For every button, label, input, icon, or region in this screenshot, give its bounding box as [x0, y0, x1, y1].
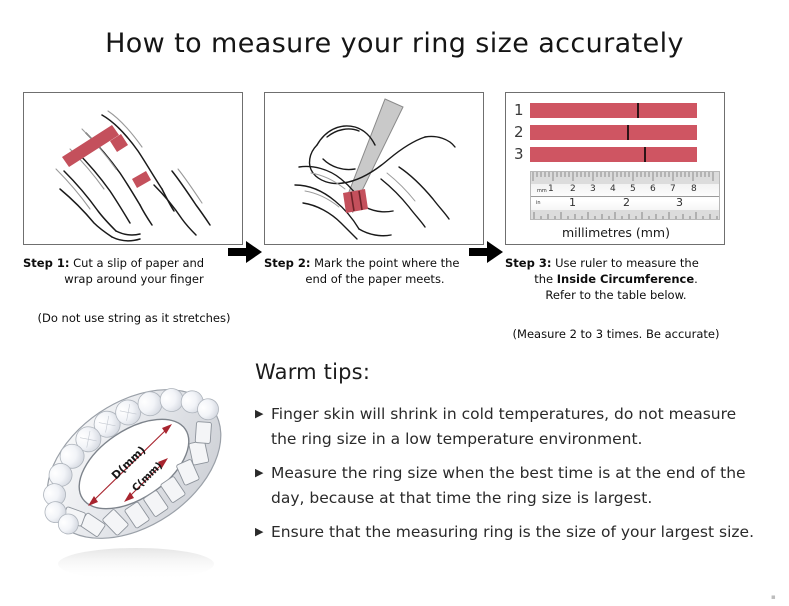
step-2-line1: Mark the point where the: [310, 256, 459, 270]
ruler-cm-band: mm 1 2 3 4 5 6 7 8: [531, 172, 719, 196]
ruler-cm-number: 3: [590, 185, 596, 194]
strip-mark: [637, 103, 639, 118]
strip-mark: [627, 125, 629, 140]
ruler-mm-tag: mm: [537, 187, 547, 196]
ruler-inch-number: 3: [676, 198, 683, 207]
warm-tip-text: Finger skin will shrink in cold temperat…: [271, 402, 755, 452]
step-3-line2-pre: the: [534, 272, 557, 286]
hand-marking-paper-with-pen-illustration: [265, 93, 483, 244]
step-1-note: (Do not use string as it stretches): [23, 311, 245, 326]
ruler-cm-number: 6: [650, 185, 656, 194]
ruler-illustration: mm 1 2 3 4 5 6 7 8 in 1 2 3: [530, 171, 720, 220]
warm-tip-text: Measure the ring size when the best time…: [271, 461, 755, 511]
step-2-caption: Step 2: Mark the point where the end of …: [264, 255, 486, 287]
strip-bar: [530, 125, 697, 140]
inside-circumference-emphasis: Inside Circumference: [557, 272, 694, 286]
strip-row: 2: [514, 123, 719, 141]
list-item: ▶ Measure the ring size when the best ti…: [255, 461, 755, 511]
strip-number: 3: [514, 147, 530, 162]
step-1-line2: wrap around your finger: [23, 271, 245, 287]
step-2-panel: [264, 92, 484, 245]
step-3-line3: Refer to the table below.: [505, 287, 727, 303]
bottom-section: D(mm) C(mm) Warm tips: ▶ Finger skin wil…: [0, 352, 789, 606]
warm-tips-block: Warm tips: ▶ Finger skin will shrink in …: [255, 360, 755, 554]
step-3-column: 1 2 3: [505, 92, 727, 342]
strip-mark: [644, 147, 646, 162]
step-1-lead: Step 1:: [23, 256, 69, 270]
strip-row: 3: [514, 145, 719, 163]
ruler-in-tag: in: [536, 199, 541, 208]
step-2-lead: Step 2:: [264, 256, 310, 270]
step-1-column: Step 1: Cut a slip of paper and wrap aro…: [23, 92, 245, 326]
right-arrow-icon: [228, 240, 262, 264]
warm-tip-text: Ensure that the measuring ring is the si…: [271, 520, 755, 545]
hand-with-paper-strip-illustration: [24, 93, 242, 244]
step-3-note: (Measure 2 to 3 times. Be accurate): [505, 327, 727, 342]
list-item: ▶ Finger skin will shrink in cold temper…: [255, 402, 755, 452]
step-3-line2-post: .: [694, 272, 698, 286]
ruler-cm-number: 8: [691, 185, 697, 194]
ruler-cm-number: 4: [610, 185, 616, 194]
step-3-panel: 1 2 3: [505, 92, 725, 245]
strip-row: 1: [514, 101, 719, 119]
ruler-cm-number: 7: [670, 185, 676, 194]
step-3-line1: Use ruler to measure the: [551, 256, 698, 270]
ring-diagram: D(mm) C(mm): [18, 352, 250, 592]
ruler-inch-ticks: [531, 210, 719, 220]
ruler-cm-ticks: [531, 172, 719, 184]
ruler-inch-band: in 1 2 3: [531, 196, 719, 220]
step-2-column: Step 2: Mark the point where the end of …: [264, 92, 486, 311]
ruler-inch-number: 1: [569, 198, 576, 207]
ruler-unit-label: millimetres (mm): [506, 225, 725, 240]
step-3-caption: Step 3: Use ruler to measure the the Ins…: [505, 255, 727, 303]
bullet-triangle-icon: ▶: [255, 520, 271, 544]
arrow-step2-to-step3: [469, 240, 503, 264]
step-1-panel: [23, 92, 243, 245]
step-2-line2: end of the paper meets.: [264, 271, 486, 287]
ruler-cm-number: 2: [570, 185, 576, 194]
ruler-cm-number: 5: [630, 185, 636, 194]
list-item: ▶ Ensure that the measuring ring is the …: [255, 520, 755, 545]
step-1-line1: Cut a slip of paper and: [69, 256, 204, 270]
ruler-cm-number: 1: [548, 185, 554, 194]
corner-watermark: ▪: [771, 594, 781, 601]
page-title: How to measure your ring size accurately: [0, 28, 789, 59]
paper-strip-shape: [343, 189, 368, 213]
step-1-caption: Step 1: Cut a slip of paper and wrap aro…: [23, 255, 245, 287]
ruler-inch-number: 2: [623, 198, 630, 207]
strip-bar: [530, 103, 697, 118]
strip-number: 2: [514, 125, 530, 140]
bullet-triangle-icon: ▶: [255, 461, 271, 485]
diamond-eternity-ring-illustration: D(mm) C(mm): [18, 352, 250, 592]
right-arrow-icon: [469, 240, 503, 264]
warm-tips-heading: Warm tips:: [255, 360, 755, 384]
bullet-triangle-icon: ▶: [255, 402, 271, 426]
step-3-lead: Step 3:: [505, 256, 551, 270]
measured-strips-group: 1 2 3: [514, 101, 719, 167]
strip-number: 1: [514, 103, 530, 118]
strip-bar: [530, 147, 697, 162]
steps-row: Step 1: Cut a slip of paper and wrap aro…: [0, 92, 789, 342]
arrow-step1-to-step2: [228, 240, 262, 264]
